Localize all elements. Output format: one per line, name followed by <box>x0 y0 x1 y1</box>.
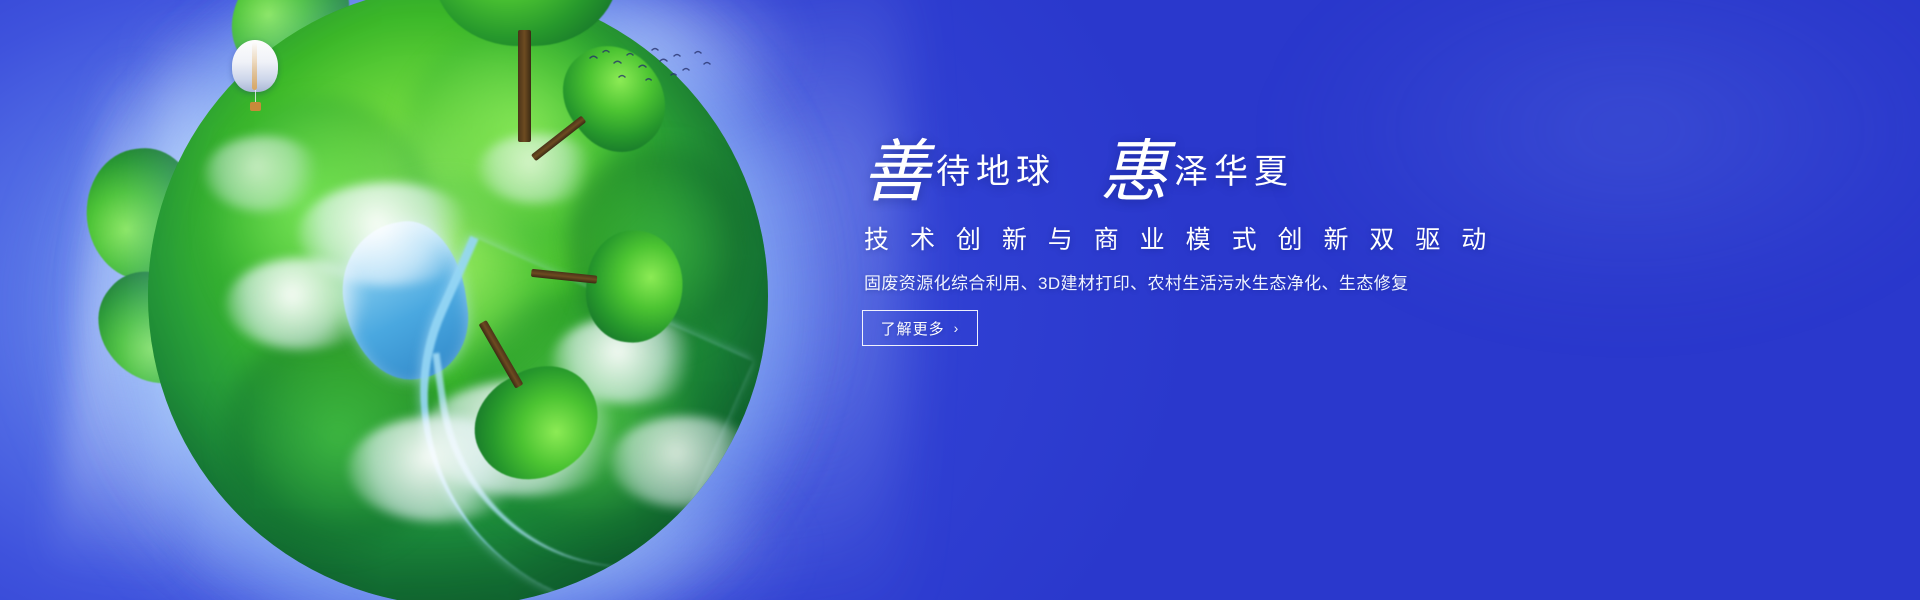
hot-air-balloon-icon <box>232 40 278 114</box>
headline-part2-emphasis: 惠 <box>1100 134 1168 210</box>
hero-subtitle: 技 术 创 新 与 商 业 模 式 创 新 双 驱 动 <box>864 228 1493 253</box>
headline-part1-emphasis: 善 <box>862 134 930 210</box>
hero-banner: 善待地球惠泽华夏 技 术 创 新 与 商 业 模 式 创 新 双 驱 动 固废资… <box>0 0 1920 600</box>
headline-part1-rest: 待地球 <box>936 154 1056 191</box>
hero-content: 善待地球惠泽华夏 技 术 创 新 与 商 业 模 式 创 新 双 驱 动 固废资… <box>862 0 1862 600</box>
learn-more-label: 了解更多 <box>881 318 945 339</box>
headline-part2-rest: 泽华夏 <box>1174 154 1294 191</box>
hero-description: 固废资源化综合利用、3D建材打印、农村生活污水生态净化、生态修复 <box>864 272 1409 296</box>
bird-flock-icon <box>586 44 716 90</box>
page-title: 善待地球惠泽华夏 <box>862 138 1482 222</box>
learn-more-button[interactable]: 了解更多 › <box>862 310 978 346</box>
chevron-right-icon: › <box>954 321 960 335</box>
